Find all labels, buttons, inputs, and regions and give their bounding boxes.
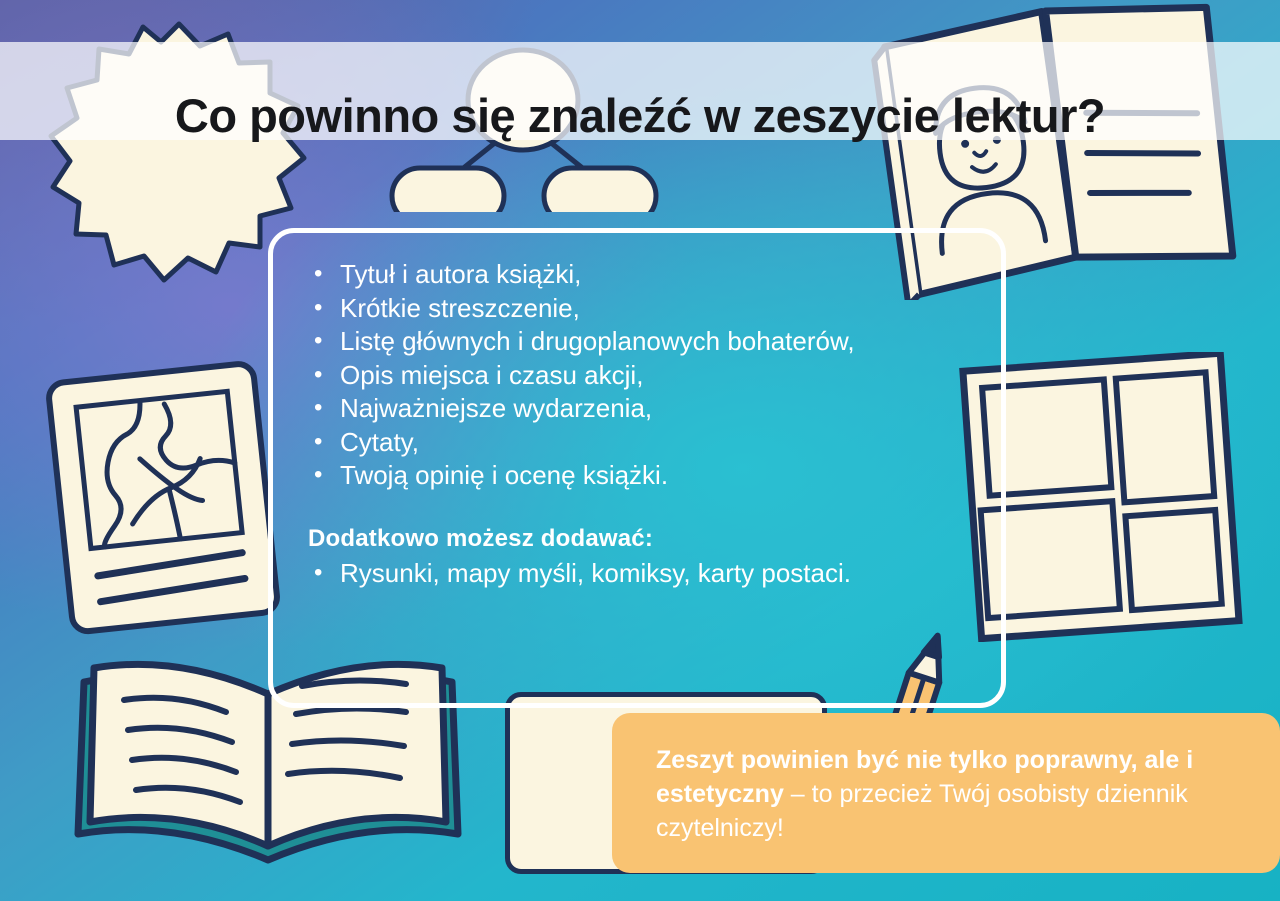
callout-text: Zeszyt powinien być nie tylko poprawny, …: [656, 743, 1240, 845]
list-item: Najważniejsze wydarzenia,: [308, 392, 988, 426]
map-card-icon: [44, 360, 294, 635]
list-item: Twoją opinię i ocenę książki.: [308, 459, 988, 493]
list-item: Krótkie streszczenie,: [308, 292, 988, 326]
comic-page-icon: [958, 352, 1243, 642]
list-item: Cytaty,: [308, 426, 988, 460]
extra-section-heading: Dodatkowo możesz dodawać:: [308, 525, 988, 553]
poster-canvas: Co powinno się znaleźć w zeszycie lektur…: [0, 0, 1280, 901]
page-title: Co powinno się znaleźć w zeszycie lektur…: [0, 88, 1280, 143]
open-book-icon: [70, 648, 465, 898]
list-item: Tytuł i autora książki,: [308, 258, 988, 292]
main-bullet-list: Tytuł i autora książki, Krótkie streszcz…: [308, 258, 988, 493]
list-item: Listę głównych i drugoplanowych bohateró…: [308, 325, 988, 359]
extra-bullet-list: Rysunki, mapy myśli, komiksy, karty post…: [308, 557, 988, 591]
content-block: Tytuł i autora książki, Krótkie streszcz…: [308, 258, 988, 590]
callout-box: Zeszyt powinien być nie tylko poprawny, …: [612, 713, 1280, 873]
list-item: Opis miejsca i czasu akcji,: [308, 359, 988, 393]
list-item: Rysunki, mapy myśli, komiksy, karty post…: [308, 557, 988, 591]
